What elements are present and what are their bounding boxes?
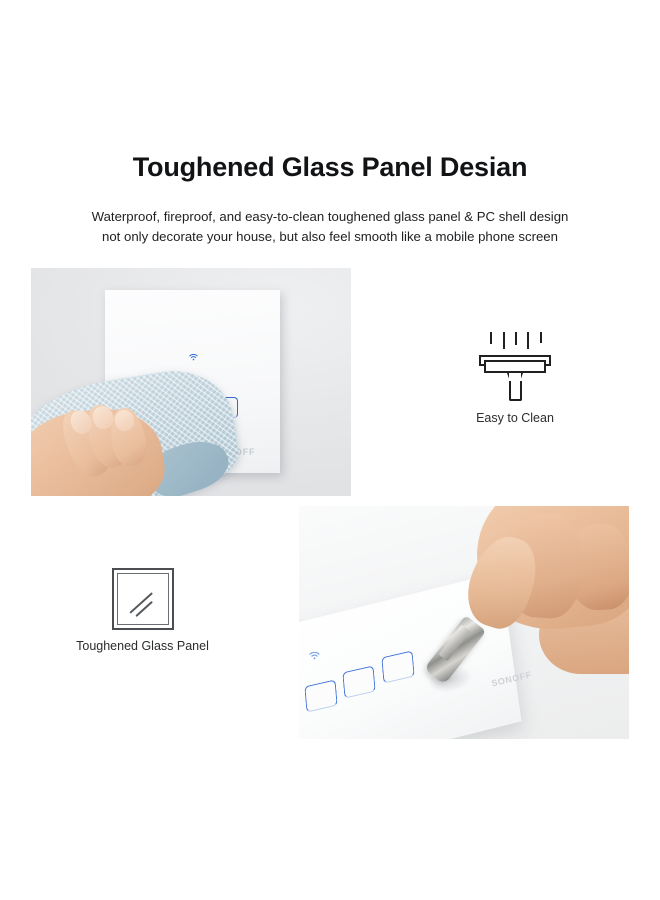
- motion-line-4: [527, 332, 529, 349]
- feature-toughened-glass-panel: Toughened Glass Panel: [60, 558, 225, 653]
- product-feature-page: Toughened Glass Panel Desian Waterproof,…: [0, 0, 660, 900]
- motion-line-5: [540, 332, 542, 343]
- feature-easy-to-clean: Easy to Clean: [440, 330, 590, 425]
- squeegee-handle: [509, 381, 522, 401]
- page-subtitle: Waterproof, fireproof, and easy-to-clean…: [38, 207, 622, 247]
- photo-cleaning-panel: SONOFF: [31, 268, 351, 496]
- photo-key-scratch-test: SONOFF: [299, 506, 629, 739]
- squeegee-blade: [484, 360, 546, 373]
- subtitle-line-2: not only decorate your house, but also f…: [38, 227, 622, 247]
- feature-label-toughened-glass-panel: Toughened Glass Panel: [60, 639, 225, 653]
- feature-label-easy-to-clean: Easy to Clean: [440, 411, 590, 425]
- motion-line-3: [515, 332, 517, 345]
- page-title: Toughened Glass Panel Desian: [0, 152, 660, 183]
- subtitle-line-1: Waterproof, fireproof, and easy-to-clean…: [38, 207, 622, 227]
- wifi-icon: [189, 348, 198, 355]
- icon-container: [440, 330, 590, 402]
- squeegee-icon: [476, 330, 554, 402]
- glass-panel-icon: [112, 568, 174, 630]
- wifi-icon: [309, 647, 320, 655]
- motion-line-1: [490, 332, 492, 344]
- motion-line-2: [503, 332, 505, 349]
- icon-container: [60, 558, 225, 630]
